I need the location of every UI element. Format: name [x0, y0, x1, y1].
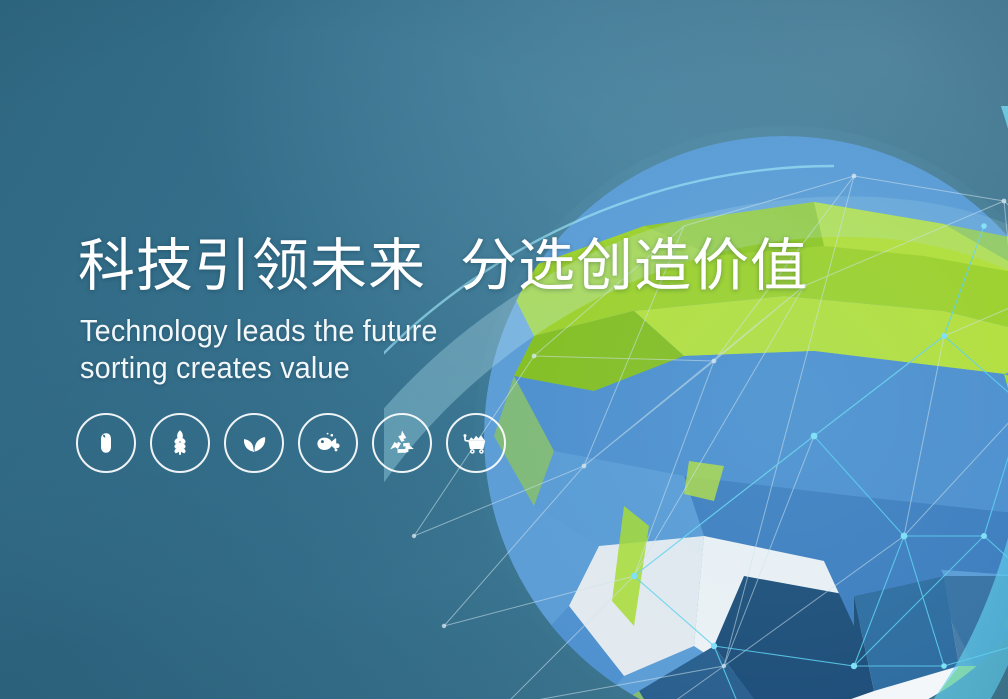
- grain-kernel-icon: [91, 428, 121, 458]
- wheat-ear-icon: [164, 427, 196, 459]
- subtitle-line-2: sorting creates value: [80, 349, 729, 387]
- industry-badge-recycle[interactable]: [372, 413, 432, 473]
- subtitle-line-1: Technology leads the future: [80, 312, 729, 350]
- fish-icon: [312, 427, 344, 459]
- mining-cart-icon: [460, 427, 492, 459]
- headline-cn-left: 科技引领未来: [78, 234, 426, 298]
- industry-icon-row: [76, 413, 506, 473]
- hero-banner: 科技引领未来分选创造价值 Technology leads the future…: [0, 0, 1008, 699]
- recycle-icon: [387, 428, 417, 458]
- page-title: 科技引领未来分选创造价值: [78, 236, 778, 298]
- industry-badge-wheat[interactable]: [150, 413, 210, 473]
- subtitle: Technology leads the future sorting crea…: [80, 312, 729, 388]
- industry-badge-grain[interactable]: [76, 413, 136, 473]
- industry-badge-leaf[interactable]: [224, 413, 284, 473]
- headline-cn-right: 分选创造价值: [460, 234, 808, 298]
- industry-badge-fish[interactable]: [298, 413, 358, 473]
- industry-badge-mining[interactable]: [446, 413, 506, 473]
- hero-copy: 科技引领未来分选创造价值 Technology leads the future…: [78, 236, 778, 387]
- leaf-icon: [238, 427, 270, 459]
